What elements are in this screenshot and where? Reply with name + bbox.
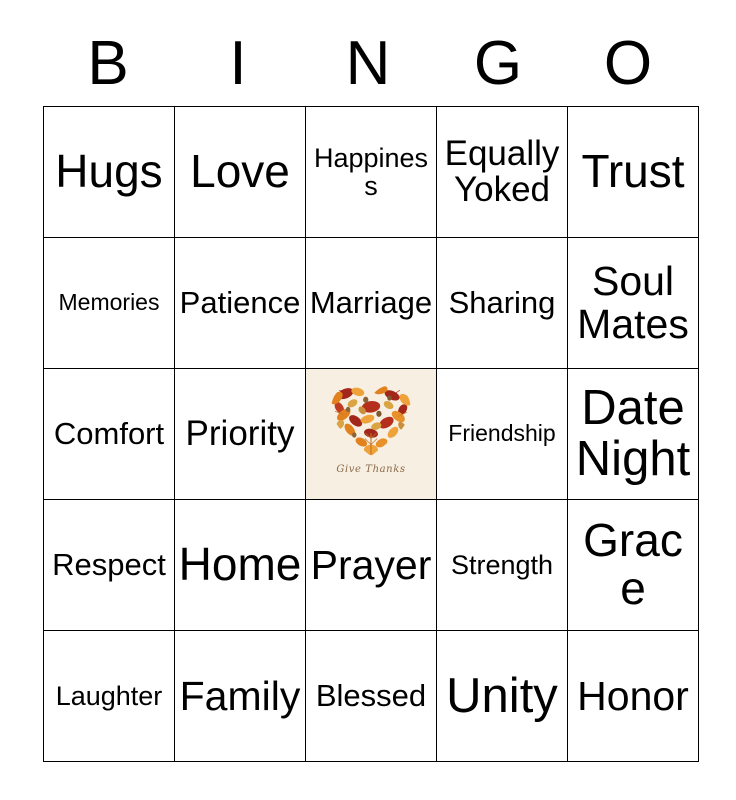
- bingo-cell[interactable]: Comfort: [44, 369, 175, 500]
- bingo-header-letter-o: O: [563, 22, 693, 106]
- bingo-row: Hugs Love Happiness Equally Yoked Trust: [44, 107, 699, 238]
- bingo-cell[interactable]: Home: [175, 500, 306, 631]
- bingo-cell[interactable]: Date Night: [568, 369, 699, 500]
- bingo-row: Respect Home Prayer Strength Grace: [44, 500, 699, 631]
- heart-icon: [327, 380, 415, 460]
- bingo-cell-label: Memories: [47, 291, 171, 315]
- bingo-cell-label: Marriage: [309, 287, 433, 319]
- bingo-cell-label: Sharing: [440, 287, 564, 319]
- bingo-cell-label: Strength: [440, 551, 564, 579]
- autumn-leaves-heart-image: Give Thanks: [306, 369, 436, 499]
- bingo-row: Laughter Family Blessed Unity Honor: [44, 631, 699, 762]
- bingo-header-row: B I N G O: [43, 22, 693, 106]
- bingo-cell-label: Date Night: [571, 383, 695, 485]
- bingo-cell[interactable]: Marriage: [306, 238, 437, 369]
- bingo-row: Comfort Priority: [44, 369, 699, 500]
- bingo-grid: Hugs Love Happiness Equally Yoked Trust …: [43, 106, 699, 762]
- bingo-cell-label: Friendship: [440, 422, 564, 446]
- free-space-caption: Give Thanks: [336, 464, 405, 475]
- bingo-cell[interactable]: Love: [175, 107, 306, 238]
- bingo-cell-label: Patience: [178, 287, 302, 319]
- bingo-cell-label: Happiness: [309, 144, 433, 200]
- bingo-cell[interactable]: Trust: [568, 107, 699, 238]
- bingo-cell-label: Home: [178, 541, 302, 589]
- bingo-cell[interactable]: Prayer: [306, 500, 437, 631]
- bingo-header-letter-i: I: [173, 22, 303, 106]
- bingo-cell[interactable]: Strength: [437, 500, 568, 631]
- bingo-cell[interactable]: Soul Mates: [568, 238, 699, 369]
- bingo-header-letter-b: B: [43, 22, 173, 106]
- bingo-header-letter-n: N: [303, 22, 433, 106]
- bingo-cell[interactable]: Blessed: [306, 631, 437, 762]
- bingo-cell-label: Blessed: [309, 680, 433, 712]
- bingo-row: Memories Patience Marriage Sharing Soul …: [44, 238, 699, 369]
- bingo-cell[interactable]: Sharing: [437, 238, 568, 369]
- bingo-cell-label: Equally Yoked: [440, 136, 564, 209]
- bingo-cell[interactable]: Grace: [568, 500, 699, 631]
- bingo-cell[interactable]: Respect: [44, 500, 175, 631]
- bingo-cell-label: Priority: [178, 416, 302, 452]
- bingo-cell-label: Soul Mates: [571, 260, 695, 345]
- bingo-cell[interactable]: Happiness: [306, 107, 437, 238]
- bingo-cell[interactable]: Patience: [175, 238, 306, 369]
- bingo-cell[interactable]: Friendship: [437, 369, 568, 500]
- bingo-free-space-cell[interactable]: Give Thanks: [306, 369, 437, 500]
- bingo-cell-label: Hugs: [47, 148, 171, 196]
- bingo-cell-label: Laughter: [47, 682, 171, 710]
- bingo-cell-label: Unity: [440, 671, 564, 722]
- bingo-cell[interactable]: Family: [175, 631, 306, 762]
- bingo-cell-label: Love: [178, 148, 302, 196]
- bingo-cell[interactable]: Equally Yoked: [437, 107, 568, 238]
- bingo-cell-label: Trust: [571, 148, 695, 196]
- bingo-cell[interactable]: Honor: [568, 631, 699, 762]
- bingo-card: B I N G O Hugs Love Happiness Equally Yo…: [43, 22, 693, 762]
- bingo-cell[interactable]: Hugs: [44, 107, 175, 238]
- bingo-cell-label: Family: [178, 675, 302, 718]
- bingo-cell-label: Honor: [571, 675, 695, 718]
- bingo-cell-label: Prayer: [309, 544, 433, 587]
- bingo-cell-label: Grace: [571, 517, 695, 613]
- bingo-cell-label: Respect: [47, 549, 171, 581]
- bingo-cell[interactable]: Laughter: [44, 631, 175, 762]
- bingo-cell-label: Comfort: [47, 418, 171, 450]
- bingo-cell[interactable]: Unity: [437, 631, 568, 762]
- bingo-cell[interactable]: Memories: [44, 238, 175, 369]
- bingo-cell[interactable]: Priority: [175, 369, 306, 500]
- bingo-header-letter-g: G: [433, 22, 563, 106]
